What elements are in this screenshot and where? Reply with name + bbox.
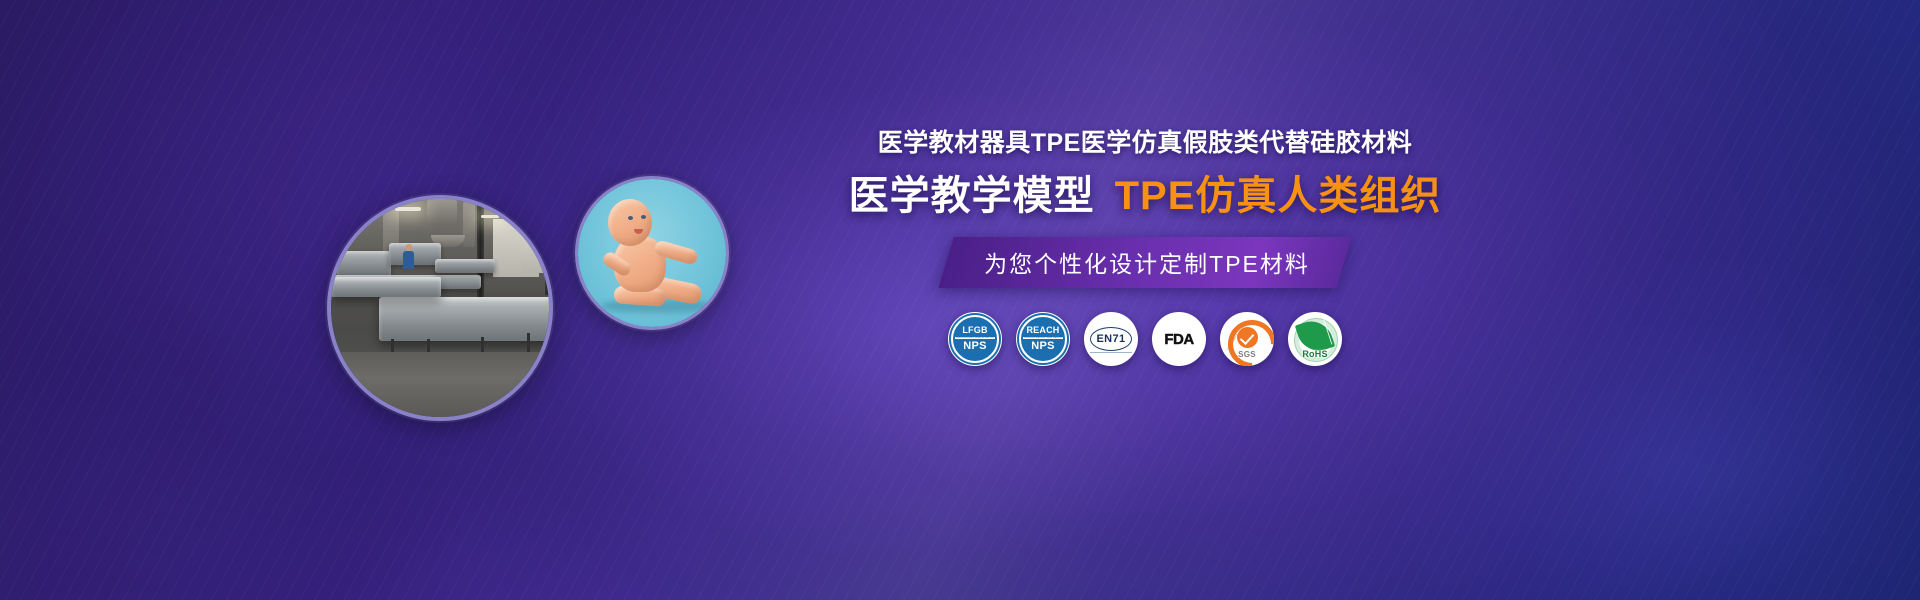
headline-main-white: 医学教学模型	[849, 174, 1095, 218]
factory-tank-far	[331, 277, 441, 297]
doll-scene	[578, 179, 726, 327]
headline-subtitle: 医学教材器具TPE医学仿真假肢类代替硅胶材料	[745, 128, 1545, 158]
reach-bottom-text: NPS	[1031, 341, 1055, 352]
factory-rollers	[435, 259, 495, 273]
reach-micro-text: Directive/REACH www.REACH.cn	[1023, 337, 1063, 340]
tagline-banner: 为您个性化设计定制TPE材料	[938, 237, 1351, 288]
cert-badge-rohs: RoHS	[1288, 312, 1342, 366]
lfgb-icon: LFGB REACH/SVHC www.LFGB.CN NPS	[951, 315, 999, 363]
factory-photo	[327, 195, 553, 421]
reach-top-text: REACH	[1026, 326, 1059, 335]
en71-icon: EN71	[1090, 327, 1132, 351]
factory-worker	[403, 251, 414, 269]
cert-badge-sgs: ISO 9001 SGS	[1220, 312, 1274, 366]
sgs-check-icon	[1237, 327, 1258, 348]
headline-main-accent: TPE仿真人类组织	[1115, 174, 1442, 218]
tagline-text: 为您个性化设计定制TPE材料	[984, 245, 1310, 279]
lfgb-bottom-text: NPS	[963, 341, 987, 352]
cert-badge-fda: FDA	[1152, 312, 1206, 366]
tagline-row: 为您个性化设计定制TPE材料	[745, 237, 1545, 288]
reach-icon: REACH Directive/REACH www.REACH.cn NPS	[1019, 315, 1067, 363]
cert-badge-lfgb: LFGB REACH/SVHC www.LFGB.CN NPS	[948, 312, 1002, 366]
cert-badge-en71: EN71	[1084, 312, 1138, 366]
doll-right-eye	[641, 215, 646, 219]
headline-main: 医学教学模型TPE仿真人类组织	[745, 173, 1545, 219]
promotional-banner: 医学教材器具TPE医学仿真假肢类代替硅胶材料 医学教学模型TPE仿真人类组织 为…	[0, 0, 1920, 600]
factory-lamp-2	[481, 215, 499, 218]
factory-column-2	[545, 203, 551, 295]
factory-lamp-1	[395, 207, 421, 211]
sgs-text: SGS	[1220, 350, 1274, 359]
doll-photo	[575, 176, 729, 330]
lfgb-top-text: LFGB	[962, 326, 987, 335]
doll-head	[608, 199, 652, 246]
factory-floor	[331, 352, 549, 417]
en71-band	[1090, 352, 1132, 353]
cert-badge-reach: REACH Directive/REACH www.REACH.cn NPS	[1016, 312, 1070, 366]
certification-badges: LFGB REACH/SVHC www.LFGB.CN NPS REACH Di…	[745, 312, 1545, 366]
factory-duct-2	[427, 199, 457, 225]
lfgb-micro-text: REACH/SVHC www.LFGB.CN	[955, 337, 994, 340]
doll-left-eye	[628, 216, 633, 220]
en71-text: EN71	[1096, 333, 1125, 345]
factory-duct-3	[463, 201, 475, 247]
banner-copy: 医学教材器具TPE医学仿真假肢类代替硅胶材料 医学教学模型TPE仿真人类组织 为…	[745, 128, 1545, 366]
rohs-text: RoHS	[1288, 349, 1342, 359]
factory-machine-mid	[389, 243, 441, 265]
fda-icon: FDA	[1164, 331, 1193, 348]
factory-machine-left	[337, 251, 391, 277]
factory-scene	[331, 199, 549, 417]
